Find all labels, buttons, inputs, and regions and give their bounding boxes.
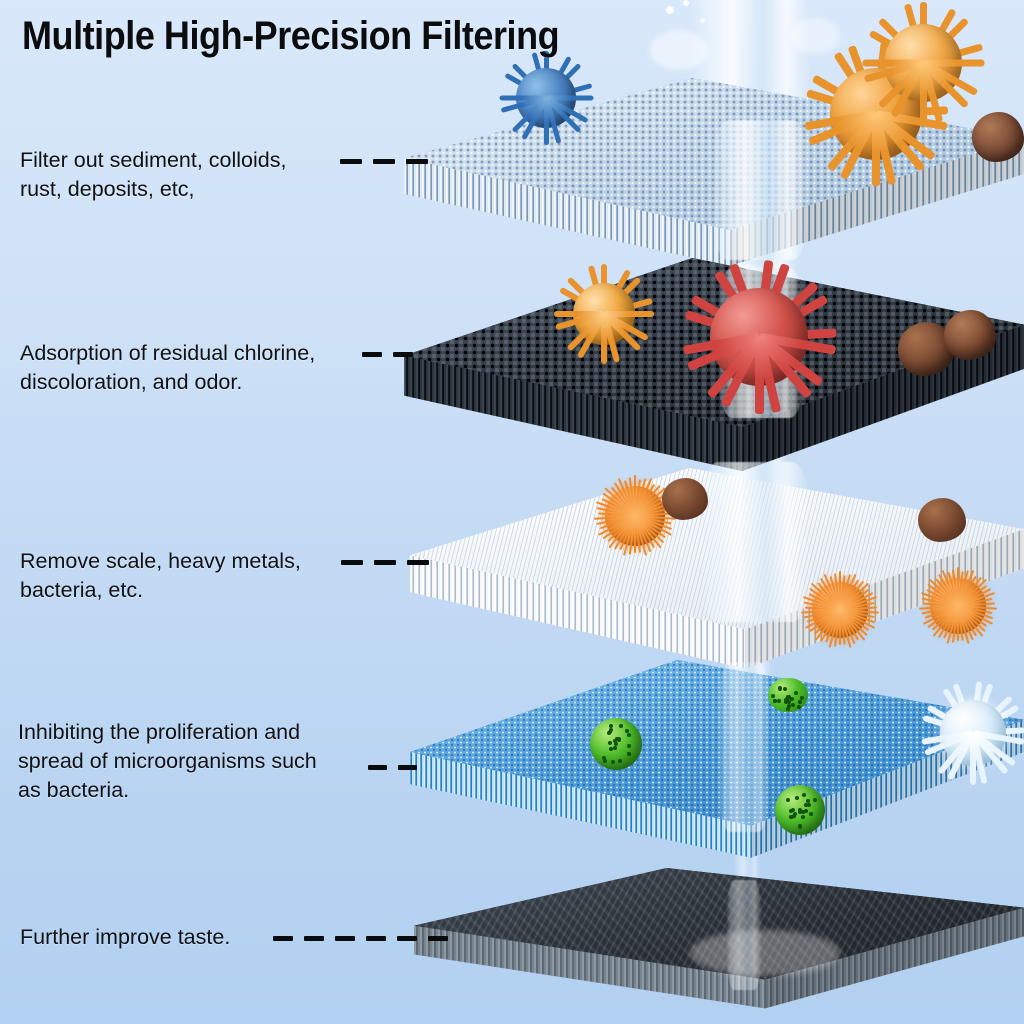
microbe-dot xyxy=(809,812,813,816)
microbe-dot xyxy=(625,729,629,733)
microbe-dot xyxy=(627,752,631,756)
microbe-dot xyxy=(798,810,802,814)
microbe-dot xyxy=(778,687,782,691)
microbe-dot xyxy=(804,809,808,813)
microbe-dot xyxy=(777,699,781,703)
infographic-canvas: Multiple High-Precision Filtering Filter… xyxy=(0,0,1024,1024)
leader-taste-layer xyxy=(273,936,459,941)
microbe-dot xyxy=(627,744,631,748)
leader-membrane-layer xyxy=(341,560,440,565)
water-droplet-b xyxy=(683,0,689,6)
leader-sediment-layer xyxy=(340,159,439,164)
splash-top-a xyxy=(650,30,708,70)
microbe-dot xyxy=(609,724,613,728)
brown-sediment-particle-membrane-a xyxy=(662,478,708,520)
microbe-dot xyxy=(794,691,798,695)
brown-sediment-particle-top xyxy=(972,112,1024,162)
orange-fuzzy-particle-c xyxy=(930,578,986,634)
brown-sediment-particle-carbon-b xyxy=(944,310,996,360)
microbe-dot xyxy=(792,814,796,818)
water-through-antibacterial xyxy=(718,662,770,832)
microbe-dot xyxy=(787,700,791,704)
microbe-dot xyxy=(611,760,615,764)
microbe-dot xyxy=(787,704,791,708)
caption-carbon-layer: Adsorption of residual chlorine, discolo… xyxy=(20,339,315,397)
microbe-dot xyxy=(791,703,795,707)
microbe-dot xyxy=(609,728,613,732)
microbe-dot xyxy=(795,796,799,800)
water-through-sediment xyxy=(712,120,808,260)
leader-antibacterial-layer xyxy=(368,765,428,770)
caption-antibacterial-layer: Inhibiting the proliferation and spread … xyxy=(18,718,317,805)
water-droplet-a xyxy=(666,6,674,14)
leader-carbon-layer xyxy=(362,352,424,357)
microbe-dot xyxy=(800,696,804,700)
microbe-dot xyxy=(801,815,805,819)
microbe-dot xyxy=(615,737,619,741)
microbe-dot xyxy=(619,724,623,728)
microbe-dot xyxy=(771,694,775,698)
microbe-dot xyxy=(602,756,606,760)
microbe-dot xyxy=(797,705,801,709)
microbe-dot xyxy=(786,798,790,802)
white-virus xyxy=(940,700,1006,766)
microbe-dot xyxy=(791,808,795,812)
microbe-dot xyxy=(609,747,613,751)
green-microbe-b xyxy=(775,785,825,835)
microbe-dot xyxy=(627,733,631,737)
caption-membrane-layer: Remove scale, heavy metals, bacteria, et… xyxy=(20,547,301,605)
caption-sediment-layer: Filter out sediment, colloids, rust, dep… xyxy=(20,146,286,204)
microbe-dot xyxy=(783,687,787,691)
virus-spike xyxy=(554,311,604,317)
microbe-dot xyxy=(798,700,802,704)
microbe-dot xyxy=(608,741,612,745)
splash-bottom xyxy=(690,930,840,976)
water-droplet-c xyxy=(700,18,705,23)
antibacterial-layer[interactable] xyxy=(404,660,1024,890)
virus-spike xyxy=(499,96,546,101)
page-title: Multiple High-Precision Filtering xyxy=(22,14,559,58)
orange-virus-top-far xyxy=(884,24,962,102)
orange-virus-carbon xyxy=(573,283,635,345)
water-through-membrane xyxy=(700,462,810,622)
microbe-dot xyxy=(613,746,617,750)
caption-taste-layer: Further improve taste. xyxy=(20,923,230,952)
green-microbe-a xyxy=(590,718,642,770)
orange-fuzzy-particle-a xyxy=(605,486,665,546)
microbe-dot xyxy=(813,798,817,802)
blue-virus xyxy=(516,68,576,128)
microbe-dot xyxy=(618,759,622,763)
green-microbe-c xyxy=(768,678,808,712)
red-virus xyxy=(710,288,808,386)
brown-sediment-particle-membrane-b xyxy=(918,498,966,542)
microbe-dot xyxy=(614,742,618,746)
microbe-dot xyxy=(798,824,802,828)
microbe-dot xyxy=(802,793,806,797)
splash-top-b xyxy=(790,18,840,54)
virus-spike xyxy=(862,60,923,67)
orange-fuzzy-particle-b xyxy=(812,582,868,638)
microbe-dot xyxy=(807,803,811,807)
